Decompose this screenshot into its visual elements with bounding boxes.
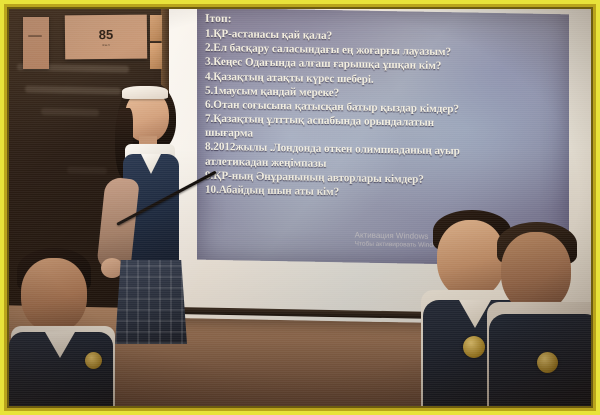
- girl-plaid-skirt: [115, 260, 187, 344]
- poster-85-number: 85: [99, 27, 114, 40]
- poster-85-subtitle: жыл: [102, 42, 110, 46]
- boy-right-edge-head: [501, 232, 571, 312]
- door-hinge-icon: [150, 43, 162, 69]
- school-crest-icon: [463, 336, 485, 358]
- door-hinge-icon: [150, 15, 162, 41]
- poster-scribble: [28, 35, 42, 37]
- school-crest-icon: [537, 352, 558, 373]
- boy-left-head: [21, 258, 87, 332]
- girl-headband: [122, 86, 168, 99]
- photo-scene: 85 жыл Iтоп: 1.ҚР-астанасы қай қала? 2.Е…: [9, 9, 591, 406]
- wall-poster-small: [23, 17, 49, 69]
- slide-content: Iтоп: 1.ҚР-астанасы қай қала? 2.Ел басқа…: [197, 9, 569, 203]
- person-boy-left: [9, 248, 125, 406]
- person-boy-right-edge: [487, 228, 591, 406]
- school-crest-icon: [85, 352, 102, 369]
- chalk-writing: [41, 108, 99, 116]
- classroom-photo: 85 жыл Iтоп: 1.ҚР-астанасы қай қала? 2.Е…: [0, 0, 600, 415]
- wall-poster-85: 85 жыл: [65, 15, 147, 60]
